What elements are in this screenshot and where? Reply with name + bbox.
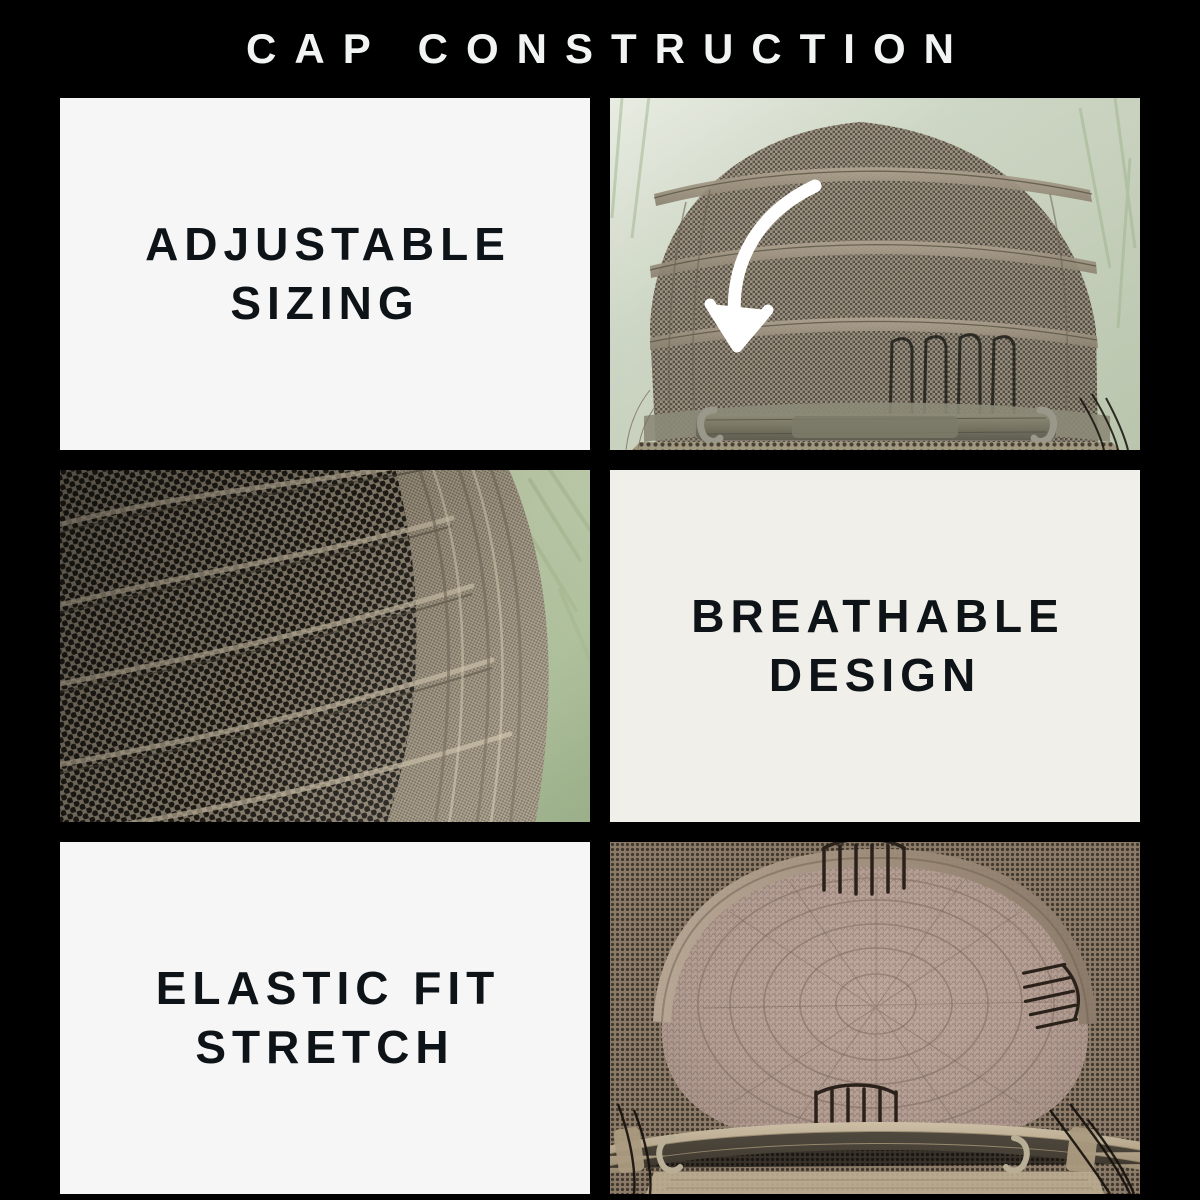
headline-line-2: SIZING [230, 277, 419, 329]
headline-line-1: ADJUSTABLE [145, 218, 511, 270]
feature-card-breathable-design: BREATHABLE DESIGN [610, 470, 1140, 822]
headline-elastic-fit-stretch: ELASTIC FIT STRETCH [150, 959, 501, 1077]
photo-wig-cap-interior-elastic-band [610, 842, 1140, 1194]
photo-breathable-mesh-weave-closeup [60, 470, 590, 822]
feature-grid: ADJUSTABLE SIZING [60, 98, 1140, 1178]
wig-cap-back-illustration [610, 98, 1140, 450]
mesh-weave-illustration [60, 470, 590, 822]
headline-breathable-design: BREATHABLE DESIGN [685, 587, 1064, 705]
page-title: CAP CONSTRUCTION [228, 28, 972, 70]
headline-line-1: ELASTIC FIT [156, 962, 501, 1014]
headline-line-1: BREATHABLE [691, 590, 1064, 642]
headline-line-2: DESIGN [769, 649, 981, 701]
wig-cap-interior-illustration [610, 842, 1140, 1194]
feature-card-adjustable-sizing: ADJUSTABLE SIZING [60, 98, 590, 450]
feature-card-elastic-fit-stretch: ELASTIC FIT STRETCH [60, 842, 590, 1194]
headline-adjustable-sizing: ADJUSTABLE SIZING [139, 215, 511, 333]
page-title-bar: CAP CONSTRUCTION [0, 0, 1200, 98]
headline-line-2: STRETCH [195, 1021, 454, 1073]
photo-wig-cap-back-adjustable-strap [610, 98, 1140, 450]
cap-construction-infographic: CAP CONSTRUCTION ADJUSTABLE SIZING [0, 0, 1200, 1200]
